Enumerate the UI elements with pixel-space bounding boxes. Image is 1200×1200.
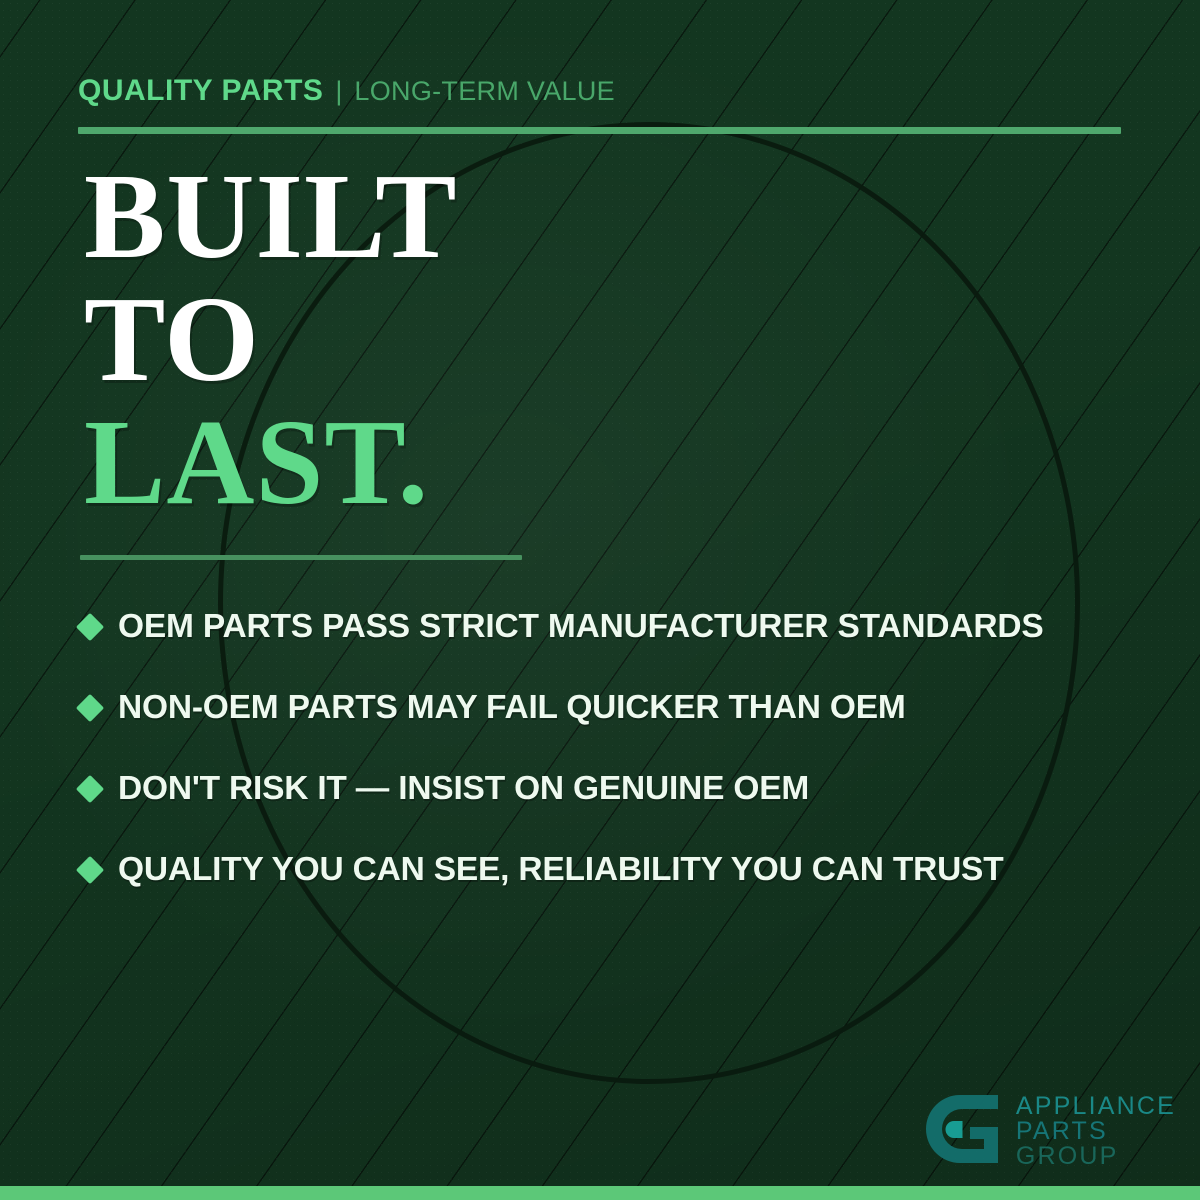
list-item: NON-OEM PARTS MAY FAIL QUICKER THAN OEM <box>80 667 1150 748</box>
list-item-label: DON'T RISK IT — INSIST ON GENUINE OEM <box>118 770 809 808</box>
page-title: BUILT TO LAST. <box>84 158 784 527</box>
eyebrow-sub-label: LONG-TERM VALUE <box>354 76 615 107</box>
benefits-list: OEM PARTS PASS STRICT MANUFACTURER STAND… <box>80 586 1150 910</box>
headline-divider-rule <box>80 555 522 560</box>
list-item: DON'T RISK IT — INSIST ON GENUINE OEM <box>80 748 1150 829</box>
brand-logo: APPLIANCE PARTS GROUP <box>920 1087 1176 1176</box>
bottom-accent-bar <box>0 1186 1200 1200</box>
headline-line-1: BUILT <box>84 158 784 275</box>
brand-word-appliance: APPLIANCE <box>1016 1094 1176 1119</box>
brand-word-parts: PARTS <box>1016 1119 1176 1144</box>
eyebrow-separator: | <box>335 76 342 107</box>
headline-line-2: TO <box>84 281 784 398</box>
appliance-parts-group-g-icon <box>920 1087 1004 1176</box>
diamond-bullet-icon <box>76 693 104 721</box>
eyebrow-header: QUALITY PARTS | LONG-TERM VALUE <box>78 74 615 108</box>
diamond-bullet-icon <box>76 774 104 802</box>
brand-word-group: GROUP <box>1016 1144 1176 1169</box>
list-item-label: NON-OEM PARTS MAY FAIL QUICKER THAN OEM <box>118 689 906 727</box>
list-item-label: OEM PARTS PASS STRICT MANUFACTURER STAND… <box>118 608 1044 646</box>
list-item-label: QUALITY YOU CAN SEE, RELIABILITY YOU CAN… <box>118 851 1003 889</box>
headline-line-3: LAST. <box>84 404 784 521</box>
poster-canvas: QUALITY PARTS | LONG-TERM VALUE BUILT TO… <box>0 0 1200 1200</box>
list-item: QUALITY YOU CAN SEE, RELIABILITY YOU CAN… <box>80 829 1150 910</box>
eyebrow-main-label: QUALITY PARTS <box>78 74 323 108</box>
diamond-bullet-icon <box>76 855 104 883</box>
header-divider-rule <box>78 127 1121 134</box>
list-item: OEM PARTS PASS STRICT MANUFACTURER STAND… <box>80 586 1150 667</box>
diamond-bullet-icon <box>76 612 104 640</box>
brand-logo-wordmark: APPLIANCE PARTS GROUP <box>1016 1094 1176 1169</box>
